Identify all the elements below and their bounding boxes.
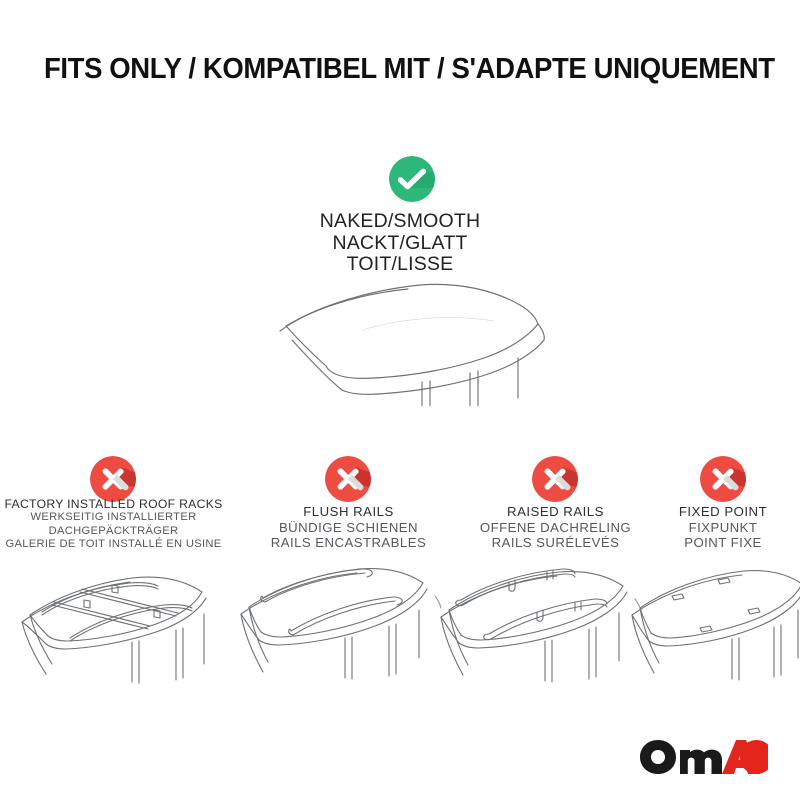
caption-line-2: WERKSEITIG INSTALLIERTER — [3, 511, 224, 524]
approved-caption-line-2: NACKT/GLATT — [280, 233, 520, 255]
cross-circle-icon — [532, 456, 578, 502]
fixed-point-illustration — [618, 550, 800, 702]
check-circle-icon — [389, 156, 435, 202]
caption-line-2: BÜNDIGE SCHIENEN — [243, 520, 454, 536]
omac-logo — [638, 736, 770, 776]
smooth-roof-illustration — [262, 278, 562, 406]
approved-caption-line-1: NAKED/SMOOTH — [280, 211, 520, 233]
rejected-caption-flush-rails: FLUSH RAILS BÜNDIGE SCHIENEN RAILS ENCAS… — [243, 504, 454, 551]
raised-rails-illustration — [425, 550, 643, 702]
caption-line-1: FIXED POINT — [631, 504, 800, 520]
caption-line-3: POINT FIXE — [631, 535, 800, 551]
caption-line-3: RAILS ENCASTRABLES — [243, 535, 454, 551]
rejected-caption-fixed-point: FIXED POINT FIXPUNKT POINT FIXE — [631, 504, 800, 551]
approved-caption-line-3: TOIT/LISSE — [280, 254, 520, 276]
rejected-caption-factory-roof-racks: FACTORY INSTALLED ROOF RACKS WERKSEITIG … — [3, 497, 224, 551]
caption-line-1: FLUSH RAILS — [243, 504, 454, 520]
factory-roof-rack-illustration — [8, 552, 228, 702]
caption-line-3: DACHGEPÄCKTRÄGER — [3, 525, 224, 538]
caption-line-2: FIXPUNKT — [631, 520, 800, 536]
page-title: FITS ONLY / KOMPATIBEL MIT / S'ADAPTE UN… — [44, 52, 739, 86]
caption-line-1: FACTORY INSTALLED ROOF RACKS — [3, 497, 224, 511]
caption-line-4: GALERIE DE TOIT INSTALLÉ EN USINE — [3, 538, 224, 551]
compatibility-infographic: FITS ONLY / KOMPATIBEL MIT / S'ADAPTE UN… — [0, 0, 800, 800]
cross-circle-icon — [325, 456, 371, 502]
cross-circle-icon — [90, 456, 136, 502]
cross-circle-icon — [700, 456, 746, 502]
flush-rails-illustration — [227, 552, 442, 702]
approved-caption: NAKED/SMOOTH NACKT/GLATT TOIT/LISSE — [280, 211, 520, 276]
